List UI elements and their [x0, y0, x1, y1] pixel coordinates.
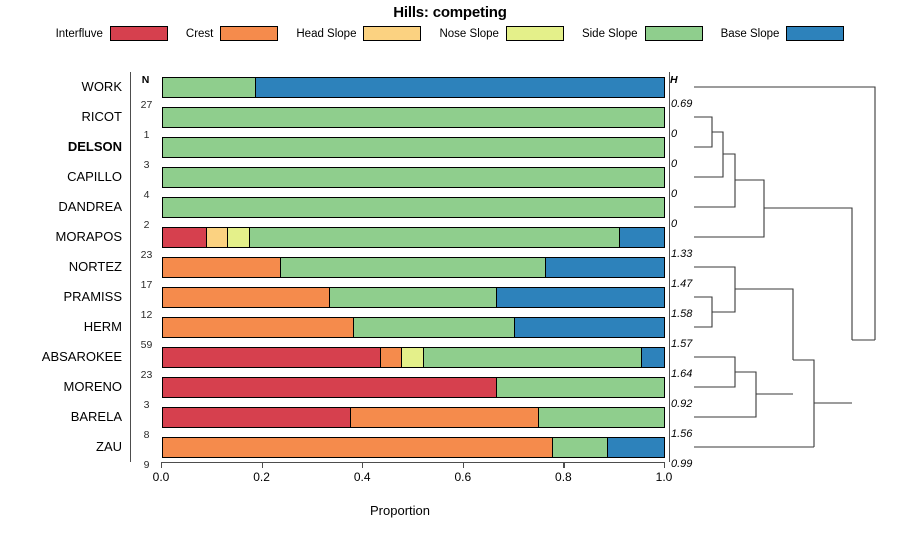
- bar-segment-interfluve[interactable]: [163, 408, 351, 427]
- y-axis-label-capillo: CAPILLO: [67, 169, 122, 184]
- x-axis-tick: [463, 462, 464, 468]
- bar-segment-side-slope[interactable]: [250, 228, 621, 247]
- bar-segment-side-slope[interactable]: [163, 138, 664, 157]
- bar-segment-crest[interactable]: [163, 318, 354, 337]
- bar-segment-base-slope[interactable]: [515, 318, 664, 337]
- legend-swatch-head-slope: [363, 26, 421, 41]
- table-row: 40: [131, 162, 671, 192]
- bar-segment-side-slope[interactable]: [553, 438, 609, 457]
- bar-segment-side-slope[interactable]: [163, 108, 664, 127]
- x-axis-tick: [362, 462, 363, 468]
- x-axis-tick-label: 0.2: [253, 470, 270, 484]
- dendrogram: [690, 72, 895, 462]
- x-axis-tick-label: 0.6: [454, 470, 471, 484]
- y-axis-label-pramiss: PRAMISS: [63, 289, 122, 304]
- bar-segment-base-slope[interactable]: [620, 228, 664, 247]
- table-row: 231.64: [131, 342, 671, 372]
- legend-label-nose-slope: Nose Slope: [439, 28, 498, 40]
- y-axis-label-dandrea: DANDREA: [58, 199, 122, 214]
- x-axis: 0.00.20.40.60.81.0: [130, 462, 670, 492]
- y-axis-label-herm: HERM: [84, 319, 122, 334]
- stacked-bar[interactable]: [162, 257, 665, 278]
- bar-segment-crest[interactable]: [163, 438, 553, 457]
- bar-segment-side-slope[interactable]: [330, 288, 497, 307]
- table-row: 121.58: [131, 282, 671, 312]
- dendrogram-svg: [690, 72, 895, 462]
- stacked-bar[interactable]: [162, 107, 665, 128]
- x-axis-tick: [262, 462, 263, 468]
- x-axis-tick-label: 0.4: [354, 470, 371, 484]
- bar-segment-crest[interactable]: [381, 348, 403, 367]
- page-title: Hills: competing: [0, 4, 900, 21]
- bar-segment-base-slope[interactable]: [642, 348, 664, 367]
- x-axis-tick-label: 1.0: [656, 470, 673, 484]
- bar-segment-interfluve[interactable]: [163, 348, 381, 367]
- stacked-bar[interactable]: [162, 437, 665, 458]
- plot-panel: 270.6910304020231.33171.47121.58591.5723…: [130, 72, 670, 462]
- stacked-bar[interactable]: [162, 317, 665, 338]
- stacked-bar[interactable]: [162, 137, 665, 158]
- stacked-bar[interactable]: [162, 227, 665, 248]
- chart-root: Hills: competing Interfluve Crest Head S…: [0, 0, 900, 540]
- legend-swatch-crest: [220, 26, 278, 41]
- legend-item-head-slope[interactable]: Head Slope: [296, 26, 421, 41]
- stacked-bar[interactable]: [162, 77, 665, 98]
- column-header-h: H: [670, 74, 692, 86]
- legend-swatch-nose-slope: [506, 26, 564, 41]
- y-axis-label-delson: DELSON: [68, 139, 122, 154]
- bar-segment-nose-slope[interactable]: [402, 348, 424, 367]
- bar-segment-crest[interactable]: [163, 258, 281, 277]
- table-row: 231.33: [131, 222, 671, 252]
- table-row: 270.69: [131, 72, 671, 102]
- legend-label-interfluve: Interfluve: [56, 28, 103, 40]
- y-axis-label-zau: ZAU: [96, 439, 122, 454]
- bar-segment-head-slope[interactable]: [207, 228, 229, 247]
- legend-item-crest[interactable]: Crest: [186, 26, 278, 41]
- x-axis-tick-label: 0.8: [555, 470, 572, 484]
- stacked-bar[interactable]: [162, 197, 665, 218]
- table-row: 20: [131, 192, 671, 222]
- bar-segment-side-slope[interactable]: [163, 198, 664, 217]
- legend-item-base-slope[interactable]: Base Slope: [721, 26, 845, 41]
- bar-segment-base-slope[interactable]: [608, 438, 664, 457]
- table-row: 591.57: [131, 312, 671, 342]
- stacked-bar[interactable]: [162, 407, 665, 428]
- bar-segment-side-slope[interactable]: [497, 378, 664, 397]
- legend-swatch-interfluve: [110, 26, 168, 41]
- y-axis-label-work: WORK: [82, 79, 122, 94]
- table-row: 10: [131, 102, 671, 132]
- bar-segment-base-slope[interactable]: [497, 288, 664, 307]
- y-axis-labels: WORKRICOTDELSONCAPILLODANDREAMORAPOSNORT…: [0, 72, 126, 462]
- table-row: 171.47: [131, 252, 671, 282]
- bar-segment-crest[interactable]: [163, 288, 330, 307]
- table-row: 30: [131, 132, 671, 162]
- y-axis-label-barela: BARELA: [71, 409, 122, 424]
- row-h-value: 0: [671, 188, 677, 200]
- bar-segment-interfluve[interactable]: [163, 378, 497, 397]
- stacked-bar[interactable]: [162, 167, 665, 188]
- row-h-value: 0: [671, 128, 677, 140]
- row-h-value: 0: [671, 158, 677, 170]
- table-row: 81.56: [131, 402, 671, 432]
- x-axis-tick-label: 0.0: [153, 470, 170, 484]
- stacked-bar[interactable]: [162, 287, 665, 308]
- bar-segment-base-slope[interactable]: [256, 78, 664, 97]
- legend-label-head-slope: Head Slope: [296, 28, 356, 40]
- x-axis-tick: [664, 462, 665, 468]
- x-axis-title: Proportion: [130, 503, 670, 518]
- stacked-bar[interactable]: [162, 347, 665, 368]
- bar-segment-side-slope[interactable]: [163, 168, 664, 187]
- legend-item-interfluve[interactable]: Interfluve: [56, 26, 168, 41]
- bar-segment-side-slope[interactable]: [539, 408, 664, 427]
- bar-segment-side-slope[interactable]: [163, 78, 256, 97]
- y-axis-label-nortez: NORTEZ: [69, 259, 122, 274]
- y-axis-label-absarokee: ABSAROKEE: [42, 349, 122, 364]
- bar-segment-crest[interactable]: [351, 408, 539, 427]
- stacked-bar[interactable]: [162, 377, 665, 398]
- legend-swatch-base-slope: [786, 26, 844, 41]
- legend-label-side-slope: Side Slope: [582, 28, 638, 40]
- legend-swatch-side-slope: [645, 26, 703, 41]
- row-h-value: 0: [671, 218, 677, 230]
- table-row: 30.92: [131, 372, 671, 402]
- bar-rows: 270.6910304020231.33171.47121.58591.5723…: [131, 72, 671, 462]
- bar-segment-interfluve[interactable]: [163, 228, 207, 247]
- x-axis-tick: [161, 462, 162, 468]
- y-axis-label-morapos: MORAPOS: [56, 229, 122, 244]
- x-axis-tick: [563, 462, 564, 468]
- legend-label-crest: Crest: [186, 28, 213, 40]
- table-row: 90.99: [131, 432, 671, 462]
- bar-segment-nose-slope[interactable]: [228, 228, 250, 247]
- legend-label-base-slope: Base Slope: [721, 28, 780, 40]
- y-axis-label-ricot: RICOT: [82, 109, 122, 124]
- x-axis-line: [161, 462, 664, 463]
- legend-item-side-slope[interactable]: Side Slope: [582, 26, 703, 41]
- bar-segment-side-slope[interactable]: [424, 348, 642, 367]
- bar-segment-base-slope[interactable]: [546, 258, 664, 277]
- bar-segment-side-slope[interactable]: [354, 318, 515, 337]
- bar-segment-side-slope[interactable]: [281, 258, 547, 277]
- y-axis-label-moreno: MORENO: [64, 379, 123, 394]
- legend-item-nose-slope[interactable]: Nose Slope: [439, 26, 563, 41]
- legend: Interfluve Crest Head Slope Nose Slope S…: [0, 26, 900, 41]
